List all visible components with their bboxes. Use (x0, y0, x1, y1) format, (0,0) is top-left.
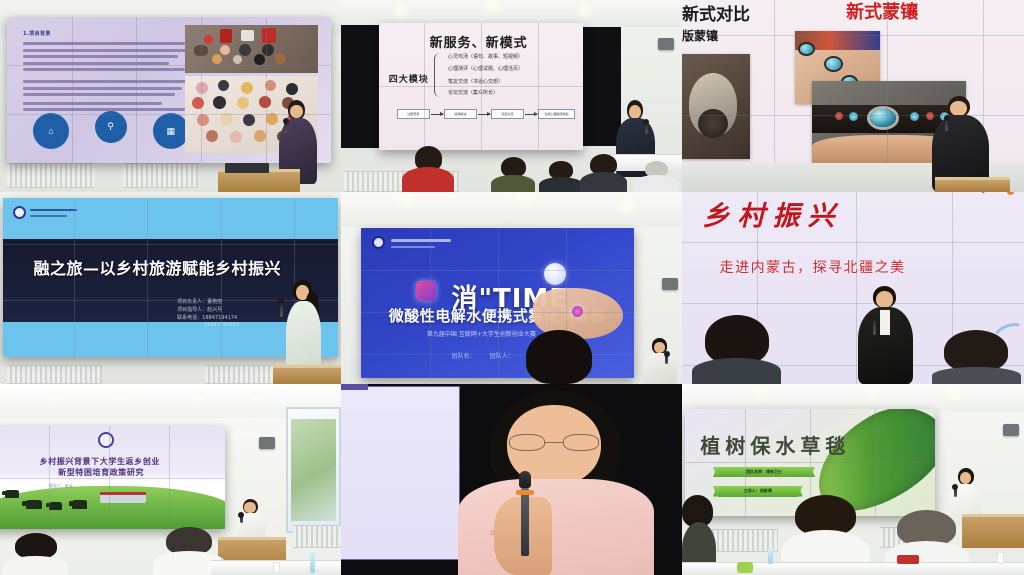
audience-member (580, 154, 628, 192)
panel-3-top-right[interactable]: 新式对比 版蒙镶 新式蒙镶 (682, 0, 1024, 192)
cube-logo-icon (416, 281, 436, 301)
green-bag (737, 562, 753, 573)
laptop-1 (225, 163, 269, 173)
audience-member (402, 146, 453, 192)
presenter-6 (856, 286, 914, 384)
panel-4-middle-left[interactable]: 融之旅—以乡村旅游赋能乡村振兴 项目负责人：董艳丽 项目指导人：赵兴月 联系电话… (0, 192, 341, 384)
radiator (7, 365, 102, 384)
red-folder (897, 555, 919, 564)
cow-silhouette (72, 500, 87, 509)
podium-4 (273, 365, 341, 384)
podium-9 (962, 514, 1024, 548)
wall-speaker-icon (658, 38, 674, 50)
spray-icon (572, 306, 583, 317)
bullet-item: 心理测评（心理试题、心理活页） (448, 65, 523, 72)
panel-7-bottom-left[interactable]: 乡村振兴背景下大学生返乡创业 新型特困培育政策研究 报告人：赵云 (0, 384, 341, 575)
panel-5-middle-center[interactable]: 消"TIME 微酸性电解水便携式雾化消毒器 第九届中国 互联网+大学生创新创业大… (341, 192, 682, 384)
projection-screen-8[interactable] (341, 386, 460, 560)
water-bottle (310, 552, 315, 573)
flow-box: 选择模块 (444, 109, 477, 119)
panel-1-top-left[interactable]: 1.项目背景 ⌂ ⚲ ▦ (0, 0, 341, 192)
slide-title: 融之旅—以乡村旅游赋能乡村振兴 (33, 255, 281, 279)
audience-member-foreground (518, 330, 600, 384)
slide-title-left: 新式对比 (682, 0, 750, 25)
team-member-label: 团队人： (490, 351, 514, 360)
audience-member-foreground (3, 533, 68, 575)
wall-speaker-icon (1003, 424, 1019, 436)
radiator (293, 525, 341, 548)
cow-silhouette (26, 500, 42, 509)
credit-line: 项目负责人：董艳丽 (177, 298, 222, 305)
flow-box: 深度交流 (491, 109, 524, 119)
glasses-icon (509, 434, 599, 451)
presenter-5 (641, 338, 679, 384)
video-thumbnail-grid: 1.项目背景 ⌂ ⚲ ▦ (0, 0, 1024, 575)
search-gear-icon: ⚲ (98, 114, 124, 140)
slide-subtitle-left: 版蒙镶 (682, 27, 718, 44)
water-bottle (768, 548, 773, 563)
bullet-item: 论坛交流（集众所长） (448, 89, 498, 96)
podium-3 (935, 177, 1010, 192)
slide-title-right: 新式蒙镶 (846, 0, 918, 24)
panel-2-top-center[interactable]: 新服务、新模式 四大模块 心灵鸡汤（语句、故事、短视频） 心理测评（心理试题、心… (341, 0, 682, 192)
slide-title: 植树保水草毯 (700, 430, 850, 459)
slide-byline: 报告人：赵云 (49, 483, 73, 489)
slide-title: 乡村振兴 (703, 194, 843, 233)
screen-frame-top (341, 384, 368, 390)
panel-6-middle-right[interactable]: 乡村振兴 走进内蒙古，探寻北疆之美 (682, 192, 1024, 384)
panel-9-bottom-right[interactable]: 植树保水草毯 团队名称：绿林卫士 主讲人：徐新博 (682, 384, 1024, 575)
wall-speaker-icon (662, 278, 678, 290)
badge-photo-top (185, 25, 318, 73)
paper-cup (997, 552, 1004, 563)
slide-title: 新服务、新模式 (430, 32, 528, 51)
cow-silhouette (49, 502, 62, 510)
slide-module-label: 四大模块 (389, 72, 429, 85)
audience-member (491, 157, 535, 192)
radiator (205, 365, 280, 384)
paper-cup (273, 562, 280, 573)
credit-line: 联系电话：18847194174 (177, 314, 237, 321)
barn-graphic (100, 494, 146, 503)
ceiling (341, 192, 682, 227)
bullet-item: 心灵鸡汤（语句、故事、短视频） (448, 53, 523, 60)
home-gear-icon: ⌂ (36, 116, 66, 146)
ceiling (682, 384, 1024, 411)
credit-line: 项目指导人：赵兴月 (177, 306, 222, 313)
speaker-closeup: DAISY printed text (454, 390, 659, 575)
slide-title-line-2: 新型特困培育政策研究 (58, 467, 144, 478)
university-logo (98, 432, 114, 448)
bullet-item: 笔友交流（书话心交想） (448, 78, 503, 85)
chart-gear-icon: ▦ (156, 116, 186, 146)
wall-speaker-icon (259, 437, 275, 449)
presenter-4 (273, 280, 331, 376)
shirt (458, 479, 654, 575)
microphone-icon (519, 471, 531, 567)
silver-vessel-photo (682, 54, 750, 160)
screen-border-left (341, 25, 382, 148)
slide-heading: 1.项目背景 (23, 30, 51, 37)
virus-icon (544, 263, 566, 285)
video-wall-7[interactable]: 乡村振兴背景下大学生返乡创业 新型特困培育政策研究 报告人：赵云 (0, 426, 225, 529)
projection-screen-2[interactable]: 新服务、新模式 四大模块 心灵鸡汤（语句、故事、短视频） 心理测评（心理试题、心… (379, 23, 584, 150)
audience-member-foreground (692, 315, 781, 384)
credit-line: 15147154559 (204, 322, 239, 328)
barn-roof-graphic (100, 492, 146, 495)
radiator (123, 163, 198, 188)
flow-box: 注册登录 (397, 109, 430, 119)
flow-box: 生成心理健康档案 (538, 109, 575, 119)
slide-subtitle: 走进内蒙古，探寻北疆之美 (720, 257, 906, 277)
panel-8-bottom-center[interactable]: DAISY printed text (341, 384, 682, 575)
radiator (7, 163, 96, 188)
audience-member-foreground (932, 330, 1021, 384)
slide-title-line-1: 乡村振兴背景下大学生返乡创业 (40, 456, 160, 467)
window (286, 407, 341, 533)
audience-member (539, 161, 583, 192)
cow-silhouette (5, 490, 19, 498)
audience-member (634, 161, 678, 192)
team-name-ribbon: 团队名称：绿林卫士 (718, 467, 810, 478)
front-desk (682, 562, 1024, 575)
team-name-label: 团队名： (451, 351, 475, 360)
